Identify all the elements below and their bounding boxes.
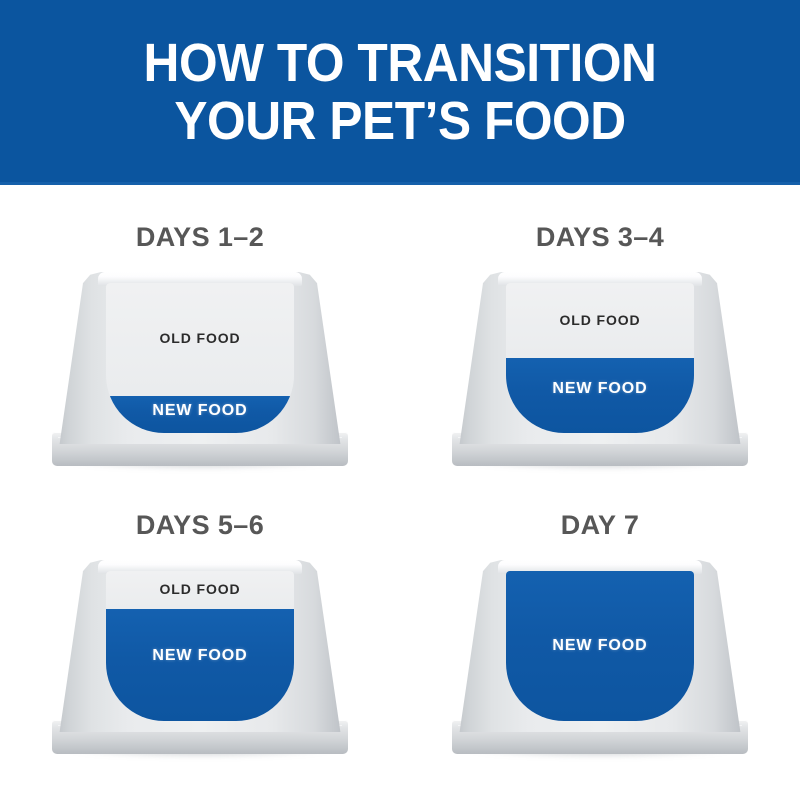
- panel-label: DAY 7: [400, 510, 800, 541]
- panel-days-3-4: DAYS 3–4 OLD FOOD NEW FOOD: [400, 200, 800, 500]
- new-food-fill: NEW FOOD: [506, 358, 694, 433]
- panel-days-1-2: DAYS 1–2 OLD FOOD NEW FOOD: [0, 200, 400, 500]
- old-food-fill: OLD FOOD: [106, 571, 294, 609]
- food-bowl: OLD FOOD NEW FOOD: [450, 554, 750, 754]
- panel-label: DAYS 1–2: [0, 222, 400, 253]
- page-title: HOW TO TRANSITION YOUR PET’S FOOD: [32, 34, 768, 150]
- new-food-fill: NEW FOOD: [106, 609, 294, 722]
- new-food-label: NEW FOOD: [506, 380, 694, 398]
- new-food-label: NEW FOOD: [106, 402, 294, 420]
- new-food-fill: NEW FOOD: [106, 396, 294, 434]
- infographic-page: HOW TO TRANSITION YOUR PET’S FOOD DAYS 1…: [0, 0, 800, 800]
- old-food-label: OLD FOOD: [106, 330, 294, 346]
- new-food-label: NEW FOOD: [106, 647, 294, 665]
- page-title-line-2: YOUR PET’S FOOD: [32, 92, 768, 150]
- old-food-label: OLD FOOD: [106, 581, 294, 597]
- bowl-food-well: OLD FOOD NEW FOOD: [106, 571, 294, 721]
- banner-underline: [0, 182, 800, 185]
- page-title-line-1: HOW TO TRANSITION: [32, 34, 768, 92]
- panel-day-7: DAY 7 OLD FOOD NEW FOOD: [400, 488, 800, 788]
- bowl-grid: DAYS 1–2 OLD FOOD NEW FOOD DAYS 3–4: [0, 188, 800, 800]
- new-food-fill: NEW FOOD: [506, 571, 694, 721]
- header-banner: HOW TO TRANSITION YOUR PET’S FOOD: [0, 0, 800, 182]
- bowl-food-well: OLD FOOD NEW FOOD: [506, 283, 694, 433]
- food-bowl: OLD FOOD NEW FOOD: [50, 266, 350, 466]
- old-food-fill: OLD FOOD: [106, 283, 294, 396]
- bowl-food-well: OLD FOOD NEW FOOD: [506, 571, 694, 721]
- panel-label: DAYS 5–6: [0, 510, 400, 541]
- bowl-food-well: OLD FOOD NEW FOOD: [106, 283, 294, 433]
- food-bowl: OLD FOOD NEW FOOD: [450, 266, 750, 466]
- new-food-label: NEW FOOD: [506, 637, 694, 655]
- panel-days-5-6: DAYS 5–6 OLD FOOD NEW FOOD: [0, 488, 400, 788]
- food-bowl: OLD FOOD NEW FOOD: [50, 554, 350, 754]
- panel-label: DAYS 3–4: [400, 222, 800, 253]
- old-food-fill: OLD FOOD: [506, 283, 694, 358]
- old-food-label: OLD FOOD: [506, 312, 694, 328]
